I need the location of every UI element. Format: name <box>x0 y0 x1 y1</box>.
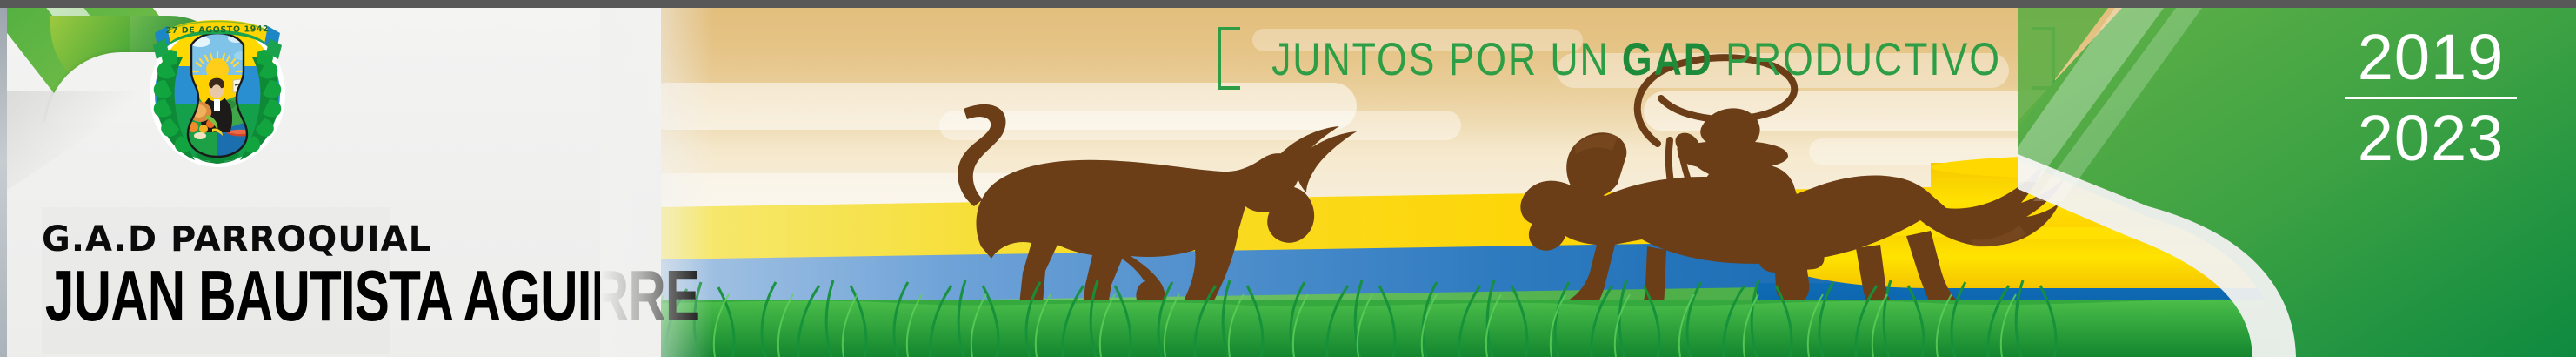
coat-of-arms: 27 DE AGOSTO 1942 <box>139 7 296 168</box>
slogan-after: PRODUCTIVO <box>1725 32 2001 84</box>
left-panel-fade <box>600 0 713 357</box>
slogan-before: JUNTOS POR UN <box>1271 32 1610 84</box>
bracket-open-icon <box>1218 27 1240 90</box>
end-year: 2023 <box>2331 104 2531 172</box>
organization-line-2: JUAN BAUTISTA AGUIRRE <box>45 258 385 333</box>
top-border-strip <box>0 0 2576 8</box>
organization-line-1: G.A.D PARROQUIAL <box>42 219 390 259</box>
start-year: 2019 <box>2331 24 2531 91</box>
emblem-scroll-text: 27 DE AGOSTO 1942 <box>165 24 269 36</box>
institutional-banner: JUNTOS POR UN GAD PRODUCTIVO 2019 <box>0 0 2576 357</box>
slogan-text: JUNTOS POR UN GAD PRODUCTIVO <box>1260 31 2012 85</box>
slogan-highlight: GAD <box>1622 32 1713 84</box>
coat-of-arms-graphic: 27 DE AGOSTO 1942 <box>139 7 296 168</box>
year-divider <box>2345 97 2517 99</box>
left-panel-edge <box>0 0 7 357</box>
right-green-panel: 2019 2023 <box>2018 8 2576 357</box>
slogan: JUNTOS POR UN GAD PRODUCTIVO <box>1218 24 2055 93</box>
term-period: 2019 2023 <box>2331 24 2531 172</box>
